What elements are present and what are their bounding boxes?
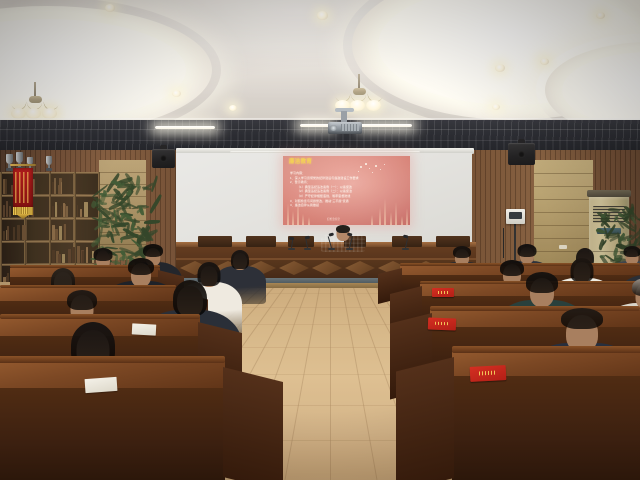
- tube-light-0: [155, 126, 215, 129]
- downlight-8: [596, 12, 605, 19]
- book: [5, 179, 7, 194]
- pennant-fringe: [13, 207, 33, 215]
- book: [59, 226, 62, 240]
- desk-back-rail: [0, 356, 225, 363]
- slide-line-7: 4．廉洁自律从我做起: [290, 203, 402, 208]
- attendee-hair: [561, 308, 603, 329]
- slide-spark-4: [380, 169, 381, 170]
- book: [63, 203, 65, 217]
- door-panel-line-r-5: [534, 225, 593, 226]
- folder-emblem-icon: [435, 321, 449, 325]
- red-folder[interactable]: [432, 288, 454, 297]
- book: [64, 224, 66, 240]
- chandelier-left: [6, 82, 64, 122]
- microphone-2: [306, 239, 312, 248]
- book: [34, 179, 35, 194]
- plant-leaf: [120, 237, 124, 244]
- red-folder[interactable]: [428, 318, 456, 331]
- book: [13, 227, 16, 240]
- downlight-2: [317, 11, 328, 20]
- shelf-cube: [27, 220, 49, 240]
- book: [22, 225, 25, 240]
- door-panel-line-r-6: [534, 238, 593, 239]
- book: [80, 209, 82, 217]
- desk-front-panel: [0, 388, 225, 480]
- downlight-0: [105, 4, 115, 12]
- downlight-3: [495, 64, 505, 72]
- attendee-hair: [632, 278, 640, 296]
- attendee-hair: [67, 290, 97, 310]
- projector-vent: [341, 124, 359, 131]
- slide-spark-3: [375, 165, 377, 167]
- door-panel-line-r-3: [534, 199, 593, 200]
- wall-speaker-right: [508, 143, 535, 165]
- slide-spark-5: [384, 164, 385, 165]
- slide-streak-11: [371, 215, 373, 225]
- slide-streak-1: [292, 211, 294, 225]
- ac-top-cover: [587, 190, 631, 197]
- folder-emblem-icon: [479, 370, 496, 376]
- desk-front-panel: [452, 376, 640, 480]
- slide-streak-9: [406, 208, 408, 225]
- desk-back-rail: [0, 314, 200, 319]
- pennant-cloth: [13, 168, 33, 208]
- door-panel-line-r-1: [534, 173, 593, 174]
- microphone-1: [348, 236, 354, 248]
- ceiling-projector[interactable]: [328, 120, 362, 138]
- microphone-4: [290, 240, 296, 248]
- slide-streak-8: [401, 216, 403, 225]
- slide-streak-3: [302, 214, 304, 225]
- trophy-0: [6, 154, 13, 171]
- projected-slide: 廉洁教育 学习内容：1．深入学习贯彻党的纪律建设与廉政建设工作要求2．警示教育：…: [283, 156, 410, 225]
- book: [77, 205, 79, 217]
- projector-mount-arm: [341, 111, 347, 122]
- plant-leaf: [120, 214, 124, 221]
- book: [17, 225, 20, 240]
- slide-streak-10: [308, 217, 310, 225]
- book: [66, 206, 68, 217]
- shelf-cube: [27, 243, 49, 263]
- desk-side-face: [223, 367, 283, 480]
- folder-emblem-icon: [438, 291, 449, 294]
- projector-lens-icon: [330, 125, 337, 131]
- shelf-cube: [2, 243, 24, 263]
- downlight-1: [172, 90, 181, 97]
- book: [6, 201, 8, 217]
- slide-streak-0: [287, 203, 289, 225]
- attendee-hair: [128, 258, 154, 275]
- pennant-rod: [10, 164, 36, 166]
- slide-title: 廉洁教育: [289, 160, 312, 165]
- conference-room-photo: 廉洁教育 学习内容：1．深入学习贯彻党的纪律建设与廉政建设工作要求2．警示教育：…: [0, 0, 640, 480]
- book: [7, 226, 8, 240]
- attendee-hair: [143, 244, 163, 257]
- head-chair-back-0: [198, 236, 232, 247]
- book: [58, 185, 59, 194]
- desk-side-face: [396, 357, 454, 480]
- slide-spark-1: [365, 163, 367, 165]
- microphone-0: [330, 236, 336, 248]
- attendee-hair: [453, 246, 471, 258]
- attendee-hair: [518, 244, 537, 257]
- slide-streak-6: [390, 212, 392, 225]
- slide-footer: 纪检监察室: [327, 217, 340, 221]
- red-folder[interactable]: [470, 365, 507, 382]
- book: [58, 254, 61, 263]
- downlight-4: [540, 58, 549, 65]
- wall-control-panel[interactable]: [506, 209, 525, 224]
- paper-document[interactable]: [85, 377, 118, 393]
- red-honor-pennant: [13, 166, 33, 216]
- door-panel-line-r-2: [534, 186, 593, 187]
- tube-light-2: [360, 124, 412, 127]
- slide-body-text: 学习内容：1．深入学习贯彻党的纪律建设与廉政建设工作要求2．警示教育：（1）典型…: [290, 171, 402, 208]
- slide-spark-2: [369, 168, 370, 169]
- door-panel-line-1: [99, 172, 146, 173]
- book: [57, 205, 59, 217]
- head-chair-back-1: [246, 236, 276, 247]
- control-panel-screen: [509, 212, 522, 219]
- attendee-hair: [526, 272, 558, 293]
- book: [52, 206, 54, 217]
- door-panel-line-r-4: [534, 212, 593, 213]
- book: [54, 178, 55, 194]
- attendee-hair: [173, 280, 207, 316]
- book: [9, 206, 11, 217]
- slide-spark-0: [360, 166, 362, 168]
- book: [61, 206, 62, 217]
- desk-back-rail: [452, 346, 640, 353]
- book: [62, 254, 65, 263]
- book: [68, 249, 71, 263]
- chandelier-bulb-2: [366, 100, 381, 111]
- book: [52, 225, 55, 240]
- book: [55, 229, 58, 240]
- microphone-3: [404, 238, 410, 248]
- book: [52, 250, 55, 263]
- trophy-3: [46, 156, 52, 171]
- slide-streak-4: [379, 207, 381, 225]
- book: [3, 205, 5, 217]
- wall-speaker-left: [152, 149, 175, 168]
- presenter-speaking: [320, 224, 366, 252]
